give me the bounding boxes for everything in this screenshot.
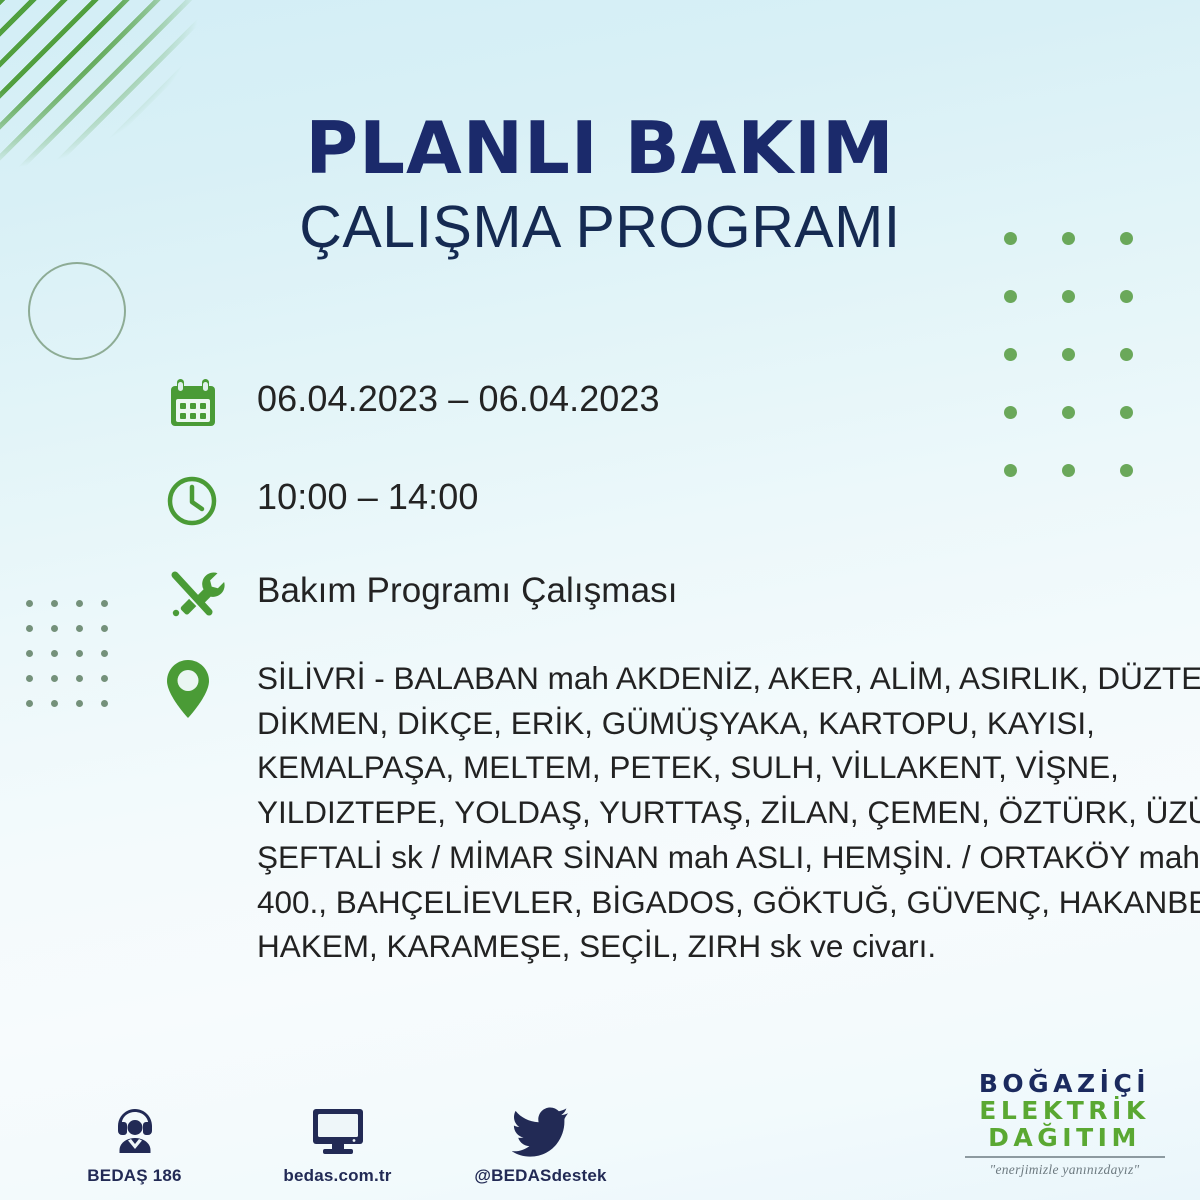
dot: [51, 675, 58, 682]
contact-website-label: bedas.com.tr: [265, 1166, 410, 1186]
contact-list: BEDAŞ 186 bedas.com.tr: [62, 1101, 613, 1186]
tools-icon: [165, 566, 257, 630]
dot: [101, 650, 108, 657]
map-pin-icon: [165, 656, 257, 720]
poster-footer: BEDAŞ 186 bedas.com.tr: [0, 1030, 1200, 1200]
work-type-text: Bakım Programı Çalışması: [257, 566, 1175, 610]
poster-canvas: PLANLI BAKIM ÇALIŞMA PROGRAMI: [0, 0, 1200, 1200]
dot: [26, 675, 33, 682]
address-line: KEMALPAŞA, MELTEM, PETEK, SULH, VİLLAKEN…: [257, 745, 1200, 790]
dot: [26, 600, 33, 607]
contact-phone-label: BEDAŞ 186: [62, 1166, 207, 1186]
poster-header: PLANLI BAKIM ÇALIŞMA PROGRAMI: [0, 112, 1200, 257]
page-title: PLANLI BAKIM: [0, 112, 1200, 184]
info-row-work: Bakım Programı Çalışması: [165, 566, 1175, 630]
brand-tagline: "enerjimizle yanınızdayız": [957, 1162, 1172, 1178]
contact-phone[interactable]: BEDAŞ 186: [62, 1101, 207, 1186]
dot: [26, 700, 33, 707]
address-line: HAKEM, KARAMEŞE, SEÇİL, ZIRH sk ve civar…: [257, 924, 1200, 969]
brand-line-elektrik: ELEKTRİK: [957, 1097, 1172, 1124]
affected-streets-text: SİLİVRİ - BALABAN mah AKDENİZ, AKER, ALİ…: [257, 656, 1200, 969]
dot: [26, 625, 33, 632]
contact-twitter[interactable]: @BEDASdestek: [468, 1101, 613, 1186]
dot: [101, 700, 108, 707]
dot: [51, 650, 58, 657]
info-row-location: SİLİVRİ - BALABAN mah AKDENİZ, AKER, ALİ…: [165, 656, 1175, 969]
address-line: YILDIZTEPE, YOLDAŞ, YURTTAŞ, ZİLAN, ÇEME…: [257, 790, 1200, 835]
dot: [51, 600, 58, 607]
dot: [76, 650, 83, 657]
clock-icon: [165, 472, 257, 536]
address-line: 400., BAHÇELİEVLER, BİGADOS, GÖKTUĞ, GÜV…: [257, 880, 1200, 925]
dot: [1062, 290, 1075, 303]
brand-line-bogazici: BOĞAZİÇİ: [957, 1070, 1172, 1097]
brand-divider: [965, 1156, 1165, 1158]
call-center-agent-icon: [62, 1101, 207, 1157]
dot: [76, 700, 83, 707]
monitor-icon: [265, 1101, 410, 1157]
dot: [26, 650, 33, 657]
date-range-text: 06.04.2023 – 06.04.2023: [257, 374, 1175, 419]
dot: [101, 625, 108, 632]
contact-website[interactable]: bedas.com.tr: [265, 1101, 410, 1186]
dot: [1062, 348, 1075, 361]
info-block: 06.04.2023 – 06.04.2023 10:00 – 14:00: [165, 374, 1175, 969]
twitter-bird-icon: [468, 1101, 613, 1157]
circle-outline-decoration: [28, 262, 126, 360]
dot: [1004, 290, 1017, 303]
dot: [101, 675, 108, 682]
bedas-logo: BOĞAZİÇİ ELEKTRİK DAĞITIM "enerjimizle y…: [957, 1070, 1172, 1178]
address-line: ŞEFTALİ sk / MİMAR SİNAN mah ASLI, HEMŞİ…: [257, 835, 1200, 880]
dot: [51, 700, 58, 707]
calendar-icon: [165, 374, 257, 438]
brand-line-dagitim: DAĞITIM: [957, 1124, 1172, 1151]
dot: [76, 600, 83, 607]
dot: [101, 600, 108, 607]
contact-twitter-label: @BEDASdestek: [468, 1166, 613, 1186]
dot: [1120, 290, 1133, 303]
info-row-date: 06.04.2023 – 06.04.2023: [165, 374, 1175, 438]
dot: [1004, 348, 1017, 361]
time-range-text: 10:00 – 14:00: [257, 472, 1175, 517]
dot-grid-left-decoration: [26, 600, 126, 725]
dot: [51, 625, 58, 632]
info-row-time: 10:00 – 14:00: [165, 472, 1175, 536]
dot: [76, 625, 83, 632]
address-line: SİLİVRİ - BALABAN mah AKDENİZ, AKER, ALİ…: [257, 656, 1200, 701]
dot: [76, 675, 83, 682]
address-line: DİKMEN, DİKÇE, ERİK, GÜMÜŞYAKA, KARTOPU,…: [257, 701, 1200, 746]
page-subtitle: ÇALIŞMA PROGRAMI: [0, 198, 1200, 257]
dot: [1120, 348, 1133, 361]
